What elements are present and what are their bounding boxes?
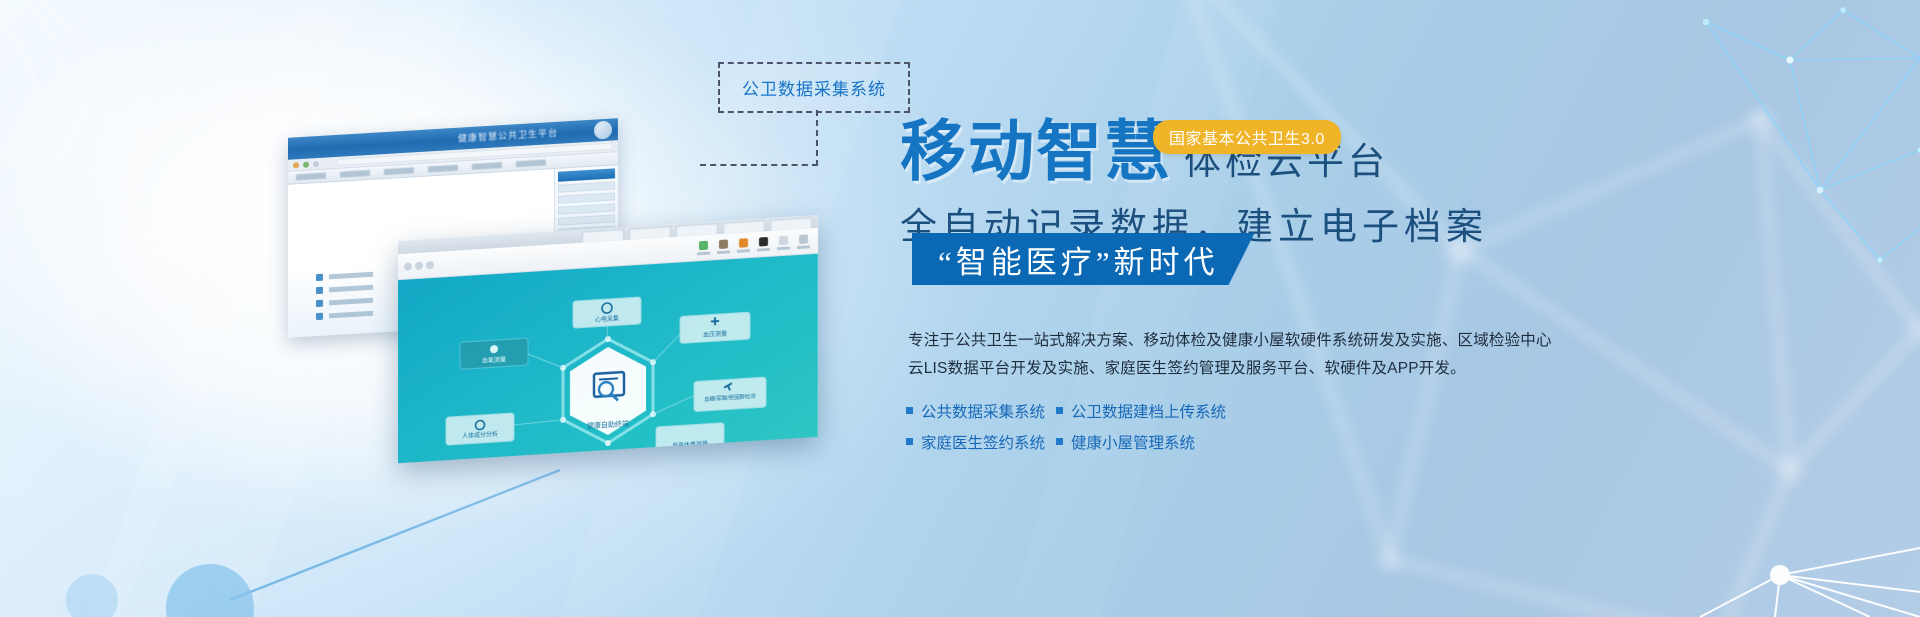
- feature-row: 家庭医生签约系统 健康小屋管理系统: [906, 431, 1406, 462]
- toolbar-caption: [777, 246, 790, 250]
- toolbar-glyph: [739, 238, 748, 248]
- constellation-top-right: [1703, 7, 1920, 263]
- list-item[interactable]: 公卫数据建档上传系统: [1056, 400, 1256, 422]
- back-window-logo-icon: [594, 121, 612, 140]
- feature-row: 公共数据采集系统 公卫数据建档上传系统: [906, 400, 1406, 431]
- kiosk-card: 血糖/尿酸/胆固醇检测: [694, 377, 766, 412]
- feature-label: 健康小屋管理系统: [1071, 431, 1195, 453]
- bullet-square-icon: [1056, 407, 1063, 414]
- list-item[interactable]: 公共数据采集系统: [906, 400, 1056, 422]
- feature-label: 公共数据采集系统: [921, 400, 1045, 422]
- back-arrow-icon: [404, 262, 412, 271]
- back-shortcut-icon: [316, 300, 323, 307]
- toolbar-caption: [757, 247, 770, 251]
- back-menu-item: [296, 173, 326, 181]
- back-shortcut-icon: [316, 287, 323, 294]
- toolbar-caption: [697, 251, 710, 255]
- forward-arrow-icon: [415, 261, 423, 270]
- feature-list: 公共数据采集系统 公卫数据建档上传系统 家庭医生签约系统 健康小屋管理系统: [906, 400, 1406, 462]
- back-shortcut-icon: [316, 313, 323, 320]
- kiosk-card: 血氧测量: [460, 338, 528, 369]
- toolbar-caption: [797, 245, 810, 249]
- screenshot-mockups: 健康智慧公共卫生平台: [280, 120, 840, 460]
- toolbar-glyph: [719, 239, 728, 249]
- blurred-network-mesh: [1180, 0, 1920, 617]
- callout-leader-vertical: [816, 110, 818, 166]
- back-menu-item: [340, 170, 370, 178]
- back-sidebar-item: [558, 192, 615, 203]
- back-nav-dot: [303, 161, 309, 167]
- promotional-banner: 健康智慧公共卫生平台: [0, 0, 1920, 617]
- toolbar-icon: [775, 233, 792, 252]
- front-window-mockup: 健康自助终端 心电采集 血压测量 血糖: [398, 215, 818, 463]
- description-line: 专注于公共卫生一站式解决方案、移动体检及健康小屋软硬件系统研发及实施、区域检验中…: [908, 327, 1608, 355]
- back-sidebar-item: [558, 203, 615, 214]
- kiosk-card: 身高体重测量: [656, 423, 724, 454]
- toolbar-icon: [715, 237, 732, 256]
- toolbar-glyph: [799, 234, 808, 244]
- headline-main: 移动智慧: [900, 118, 1172, 184]
- back-shortcut-label: [329, 272, 373, 280]
- back-menu-item: [516, 159, 546, 167]
- kiosk-card: 血压测量: [680, 312, 750, 343]
- tagline-ribbon: “智能医疗”新时代: [912, 233, 1255, 285]
- toolbar-glyph: [779, 235, 788, 245]
- feature-label: 家庭医生签约系统: [921, 431, 1045, 453]
- list-item[interactable]: 家庭医生签约系统: [906, 431, 1056, 453]
- toolbar-icon: [735, 235, 752, 254]
- back-sidebar-item: [558, 214, 615, 225]
- back-shortcut-label: [329, 298, 373, 306]
- callout-leader-horizontal: [700, 164, 818, 166]
- description-block: 专注于公共卫生一站式解决方案、移动体检及健康小屋软硬件系统研发及实施、区域检验中…: [908, 327, 1608, 383]
- kiosk-hexagon-diagram: 健康自助终端 心电采集 血压测量 血糖: [398, 254, 818, 463]
- bullet-square-icon: [906, 438, 913, 445]
- back-menu-item: [384, 167, 414, 175]
- back-nav-dot: [313, 160, 319, 166]
- back-window-title: 健康智慧公共卫生平台: [458, 126, 558, 145]
- feature-label: 公卫数据建档上传系统: [1071, 400, 1226, 422]
- back-shortcut-icon: [316, 274, 323, 281]
- status-badge: 国家基本公共卫生3.0: [1153, 120, 1341, 154]
- list-item[interactable]: 健康小屋管理系统: [1056, 431, 1256, 453]
- bullet-square-icon: [1056, 438, 1063, 445]
- toolbar-glyph: [759, 236, 768, 246]
- bullet-square-icon: [906, 407, 913, 414]
- kiosk-card: 心电采集: [573, 297, 641, 328]
- front-window-dashboard: 健康自助终端 心电采集 血压测量 血糖: [398, 254, 818, 463]
- back-shortcut-label: [329, 311, 373, 319]
- back-menu-item: [428, 165, 458, 173]
- reload-icon: [426, 260, 434, 269]
- kiosk-card: 人体成分分析: [446, 413, 514, 445]
- toolbar-icon: [795, 232, 812, 251]
- back-sidebar-item: [558, 181, 615, 192]
- toolbar-glyph: [699, 240, 708, 250]
- back-shortcut-label: [329, 285, 373, 293]
- toolbar-spacer: [437, 248, 692, 264]
- back-nav-dot: [293, 162, 299, 168]
- toolbar-caption: [717, 250, 730, 254]
- callout-label: 公卫数据采集系统: [742, 80, 886, 99]
- callout-box: 公卫数据采集系统: [718, 62, 910, 113]
- description-line: 云LIS数据平台开发及实施、家庭医生签约管理及服务平台、软硬件及APP开发。: [908, 355, 1608, 383]
- back-menu-item: [472, 162, 502, 170]
- back-sidebar-header: [558, 168, 615, 181]
- toolbar-caption: [737, 249, 750, 253]
- toolbar-icon: [695, 238, 712, 257]
- toolbar-icon: [755, 234, 772, 253]
